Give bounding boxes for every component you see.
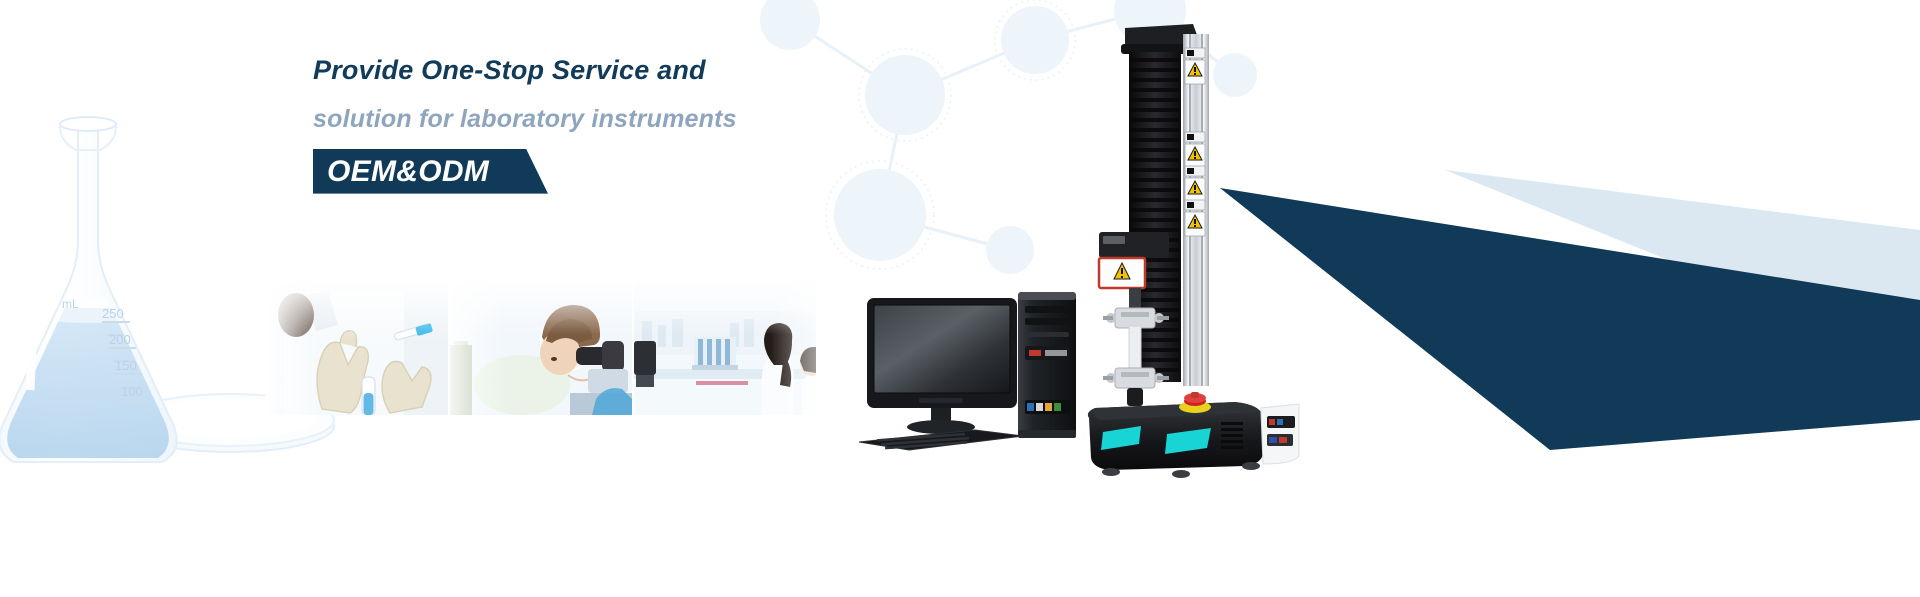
photo-strip [266, 281, 818, 415]
warning-label [1185, 48, 1205, 84]
svg-text:150: 150 [115, 358, 137, 373]
photo-pipetting [266, 281, 448, 415]
svg-text:100: 100 [121, 384, 143, 399]
promo-banner: 250 200 150 100 mL Provide One-Stop Serv… [0, 0, 1920, 597]
emergency-stop-button [1179, 392, 1211, 413]
warning-labels [1185, 48, 1205, 236]
svg-text:250: 250 [102, 306, 124, 321]
headline-block: Provide One-Stop Service and solution fo… [313, 56, 833, 194]
svg-text:200: 200 [109, 332, 131, 347]
test-specimen [1129, 326, 1141, 370]
headline-line-2: solution for laboratory instruments [313, 106, 833, 132]
svg-text:mL: mL [62, 297, 79, 311]
pc-tower [1018, 292, 1076, 438]
warning-label [1185, 166, 1205, 202]
chevron-graphics [1220, 120, 1920, 480]
badge-label: OEM&ODM [327, 154, 489, 190]
warning-label [1185, 132, 1205, 168]
computer-workstation [855, 280, 1085, 455]
oem-odm-badge: OEM&ODM [313, 149, 553, 194]
lcd-monitor [867, 298, 1017, 434]
lower-grip [1103, 368, 1169, 406]
photo-microscope [450, 281, 632, 415]
photo-laboratory [634, 281, 816, 415]
warning-label [1185, 200, 1205, 236]
headline-line-1: Provide One-Stop Service and [313, 56, 833, 84]
